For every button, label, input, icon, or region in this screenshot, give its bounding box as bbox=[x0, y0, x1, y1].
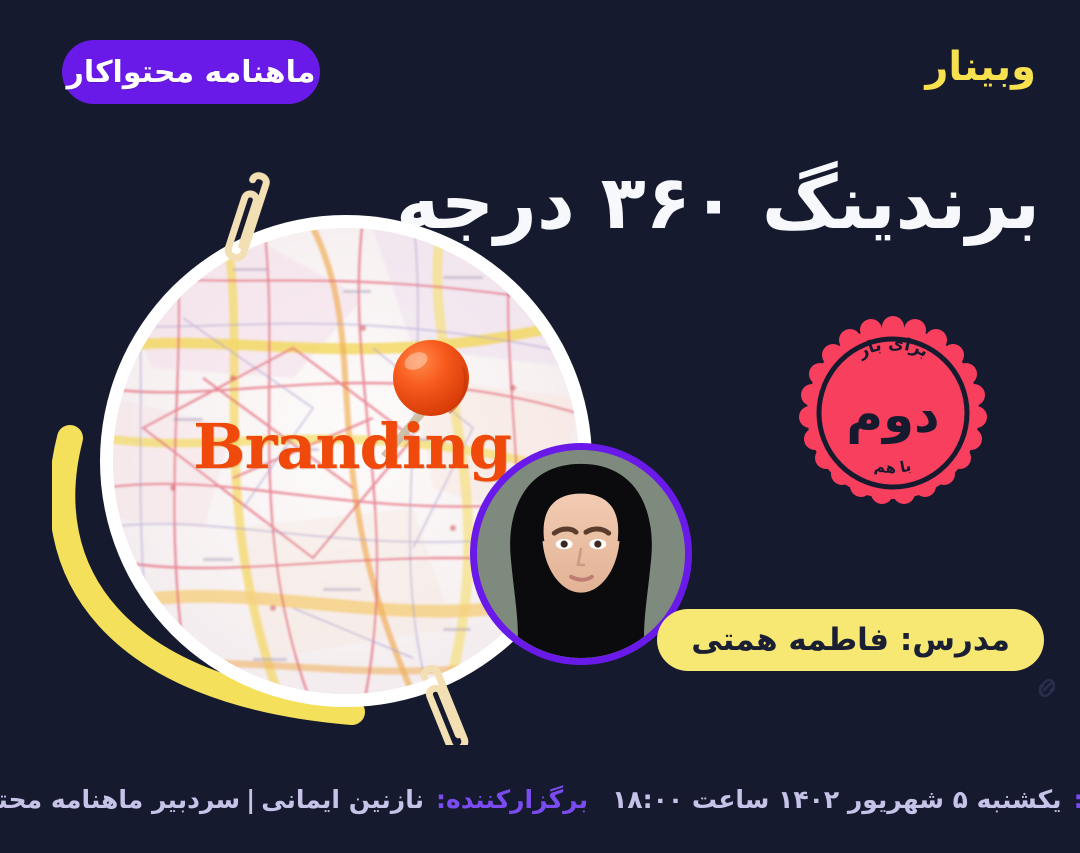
host-value: نازنین ایمانی bbox=[261, 785, 424, 814]
webinar-poster: ماهنامه محتواکار وبینار برندینگ ۳۶۰ درجه bbox=[0, 0, 1080, 853]
host-role: سردبیر ماهنامه محتواکار bbox=[0, 785, 240, 814]
time-label: زمان: bbox=[1074, 785, 1080, 814]
kicker-label: وبینار bbox=[925, 44, 1036, 90]
footer-bar: زمان:یکشنبه ۵ شهریور ۱۴۰۲ ساعت ۱۸:۰۰برگز… bbox=[0, 745, 1080, 853]
instructor-portrait-icon bbox=[477, 450, 685, 658]
footer-separator: | bbox=[240, 785, 261, 814]
instructor-pill[interactable]: مدرس: فاطمه همتی bbox=[657, 609, 1044, 671]
status-badge: برای بار با هم دوم bbox=[793, 313, 993, 513]
footer-line: زمان:یکشنبه ۵ شهریور ۱۴۰۲ ساعت ۱۸:۰۰برگز… bbox=[0, 785, 1080, 814]
host-label: برگزارکننده: bbox=[436, 785, 588, 814]
link-icon[interactable] bbox=[1032, 672, 1062, 704]
brand-label: ماهنامه محتواکار bbox=[67, 55, 316, 90]
badge-center-text: دوم bbox=[793, 317, 993, 513]
brand-pill[interactable]: ماهنامه محتواکار bbox=[62, 40, 320, 104]
time-value: یکشنبه ۵ شهریور ۱۴۰۲ ساعت ۱۸:۰۰ bbox=[612, 785, 1061, 814]
instructor-label: مدرس: فاطمه همتی bbox=[691, 622, 1010, 658]
